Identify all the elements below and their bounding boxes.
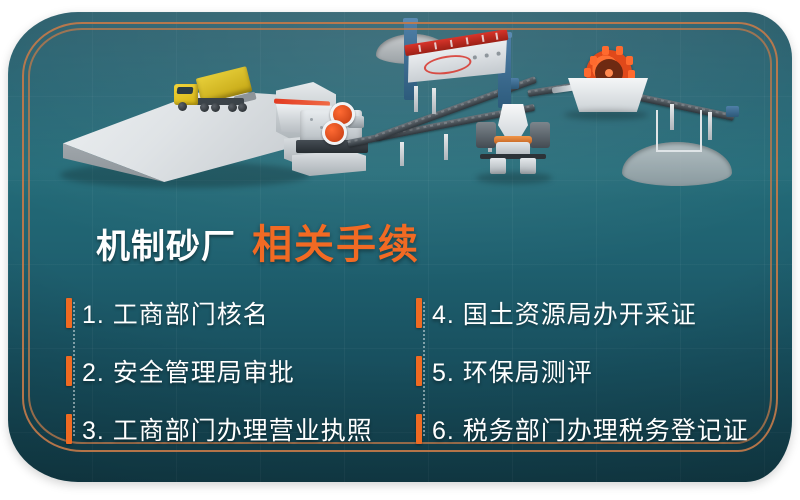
main-panel: 机制砂厂 相关手续 1. 工商部门核名 2. 安全管理局审批 3. 工商部门办理… (8, 12, 792, 482)
bullet-icon (416, 298, 422, 328)
bullet-icon (66, 414, 72, 444)
list-item[interactable]: 4. 国土资源局办开采证 (416, 284, 766, 342)
bullet-icon (66, 298, 72, 328)
procedure-column-left: 1. 工商部门核名 2. 安全管理局审批 3. 工商部门办理营业执照 (66, 284, 416, 458)
list-item-label: 2. 安全管理局审批 (82, 353, 295, 389)
list-item[interactable]: 1. 工商部门核名 (66, 284, 416, 342)
list-item-label: 4. 国土资源局办开采证 (432, 295, 697, 331)
bullet-icon (416, 356, 422, 386)
procedure-columns: 1. 工商部门核名 2. 安全管理局审批 3. 工商部门办理营业执照 4. 国土… (66, 284, 766, 458)
list-item-label: 3. 工商部门办理营业执照 (82, 411, 373, 447)
title-primary: 机制砂厂 (96, 219, 236, 268)
bullet-icon (416, 414, 422, 444)
bullet-icon (66, 356, 72, 386)
procedure-column-right: 4. 国土资源局办开采证 5. 环保局测评 6. 税务部门办理税务登记证 (416, 284, 766, 458)
list-item-label: 1. 工商部门核名 (82, 295, 269, 331)
list-item[interactable]: 5. 环保局测评 (416, 342, 766, 400)
list-item[interactable]: 6. 税务部门办理税务登记证 (416, 400, 766, 458)
title-accent: 相关手续 (252, 212, 420, 270)
list-item[interactable]: 2. 安全管理局审批 (66, 342, 416, 400)
list-item-label: 5. 环保局测评 (432, 353, 593, 389)
list-item[interactable]: 3. 工商部门办理营业执照 (66, 400, 416, 458)
list-item-label: 6. 税务部门办理税务登记证 (432, 411, 749, 447)
poster-canvas: 机制砂厂 相关手续 1. 工商部门核名 2. 安全管理局审批 3. 工商部门办理… (0, 0, 800, 500)
page-title: 机制砂厂 相关手续 (96, 212, 420, 258)
